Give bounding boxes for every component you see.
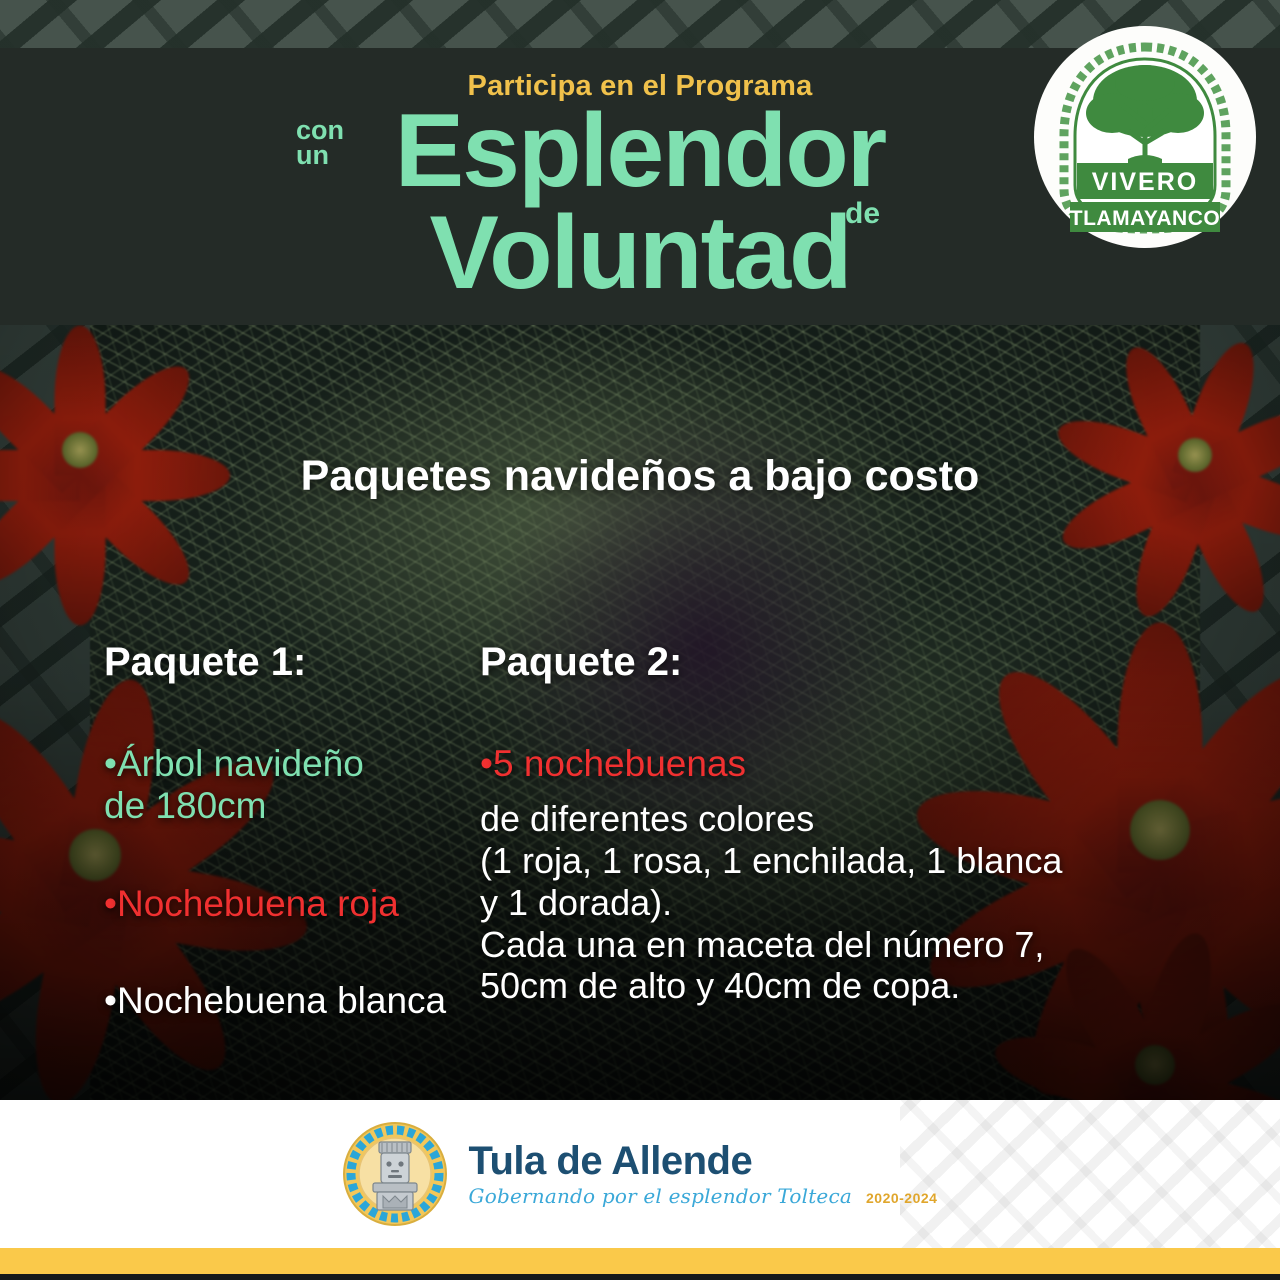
superscript-con-un: con un (296, 118, 344, 169)
logo-text-tlamayanco: TLAMAYANCO (1070, 207, 1220, 230)
package-1-item-tree-label: Árbol navideño de 180cm (104, 743, 364, 826)
government-tagline: Gobernando por el esplendor Tolteca (469, 1184, 852, 1208)
package-1-item-red-poinsettia-label: Nochebuena roja (117, 883, 399, 924)
bullet-icon: • (104, 980, 117, 1021)
footer-text-block: Tula de Allende Gobernando por el esplen… (469, 1140, 938, 1208)
package-1-item-white-poinsettia-label: Nochebuena blanca (117, 980, 446, 1021)
bullet-icon: • (104, 883, 117, 924)
bullet-icon: • (480, 743, 493, 784)
package-1-title: Paquete 1: (104, 640, 470, 685)
package-2-item-five-poinsettias: •5 nochebuenas (480, 701, 1170, 785)
bullet-icon: • (104, 743, 117, 784)
packages-section: Paquete 1: •Árbol navideño de 180cm •Noc… (0, 640, 1280, 1035)
administration-years: 2020-2024 (866, 1190, 937, 1206)
superscript-un: un (296, 143, 344, 168)
tagline-row: Gobernando por el esplendor Tolteca 2020… (469, 1184, 938, 1208)
bottom-dark-edge (0, 1274, 1280, 1280)
footer-greek-key-watermark (900, 1100, 1280, 1248)
package-1-column: Paquete 1: •Árbol navideño de 180cm •Noc… (0, 640, 470, 1035)
vivero-tlamayanco-logo: VIVERO TLAMAYANCO (1034, 26, 1256, 248)
package-2-description: de diferentes colores (1 roja, 1 rosa, 1… (480, 798, 1170, 1007)
poster-canvas: Participa en el Programa con un Esplendo… (0, 0, 1280, 1280)
package-2-item-five-poinsettias-label: 5 nochebuenas (493, 743, 746, 784)
subheadline: Paquetes navideños a bajo costo (0, 452, 1280, 501)
logo-text-vivero: VIVERO (1092, 168, 1198, 196)
package-1-item-white-poinsettia: •Nochebuena blanca (104, 938, 470, 1022)
footer-content: Tula de Allende Gobernando por el esplen… (343, 1122, 938, 1226)
package-2-title: Paquete 2: (480, 640, 1170, 685)
municipality-name: Tula de Allende (469, 1140, 938, 1182)
title-esplendor: Esplendor (395, 93, 886, 209)
title-voluntad: Voluntad (429, 195, 850, 311)
package-1-item-red-poinsettia: •Nochebuena roja (104, 841, 470, 925)
bottom-gold-bar (0, 1248, 1280, 1274)
tula-de-allende-seal (343, 1122, 447, 1226)
package-1-item-tree: •Árbol navideño de 180cm (104, 701, 470, 828)
vivero-logo-graphic: VIVERO TLAMAYANCO (1050, 39, 1240, 235)
footer-bar: Tula de Allende Gobernando por el esplen… (0, 1100, 1280, 1248)
package-2-column: Paquete 2: •5 nochebuenas de diferentes … (470, 640, 1170, 1035)
